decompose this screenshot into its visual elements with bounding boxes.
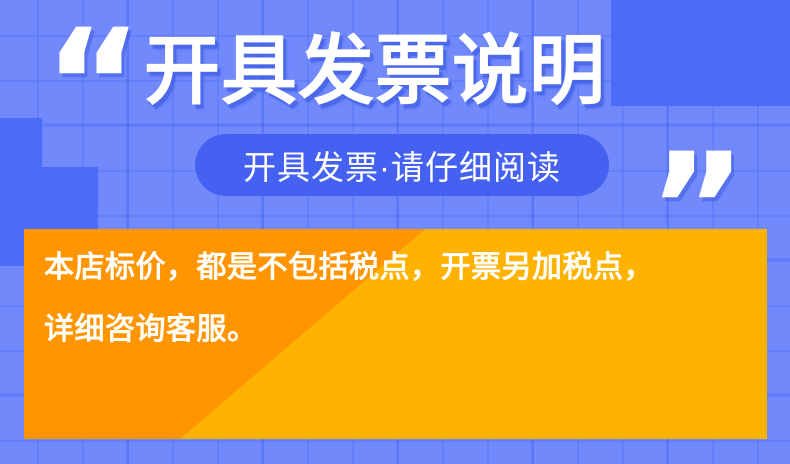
page-title: 开具发票说明 xyxy=(144,30,606,114)
invoice-instructions-banner: “ ” 开具发票说明 开具发票·请仔细阅读 本店标价，都是不包括税点，开票另加税… xyxy=(0,0,790,464)
decorative-block-middle-left xyxy=(0,118,42,170)
subtitle-label: 开具发票·请仔细阅读 xyxy=(243,141,561,189)
notice-line-1: 本店标价，都是不包括税点，开票另加税点， xyxy=(44,253,757,283)
notice-text-block: 本店标价，都是不包括税点，开票另加税点， 详细咨询客服。 xyxy=(44,253,757,377)
notice-panel: 本店标价，都是不包括税点，开票另加税点， 详细咨询客服。 xyxy=(24,229,767,439)
open-quote-icon: “ xyxy=(44,10,139,160)
subtitle-pill: 开具发票·请仔细阅读 xyxy=(195,134,609,196)
decorative-block-top-right-b xyxy=(611,0,721,38)
decorative-block-top-right-c xyxy=(611,38,790,106)
notice-line-2: 详细咨询客服。 xyxy=(44,315,757,345)
